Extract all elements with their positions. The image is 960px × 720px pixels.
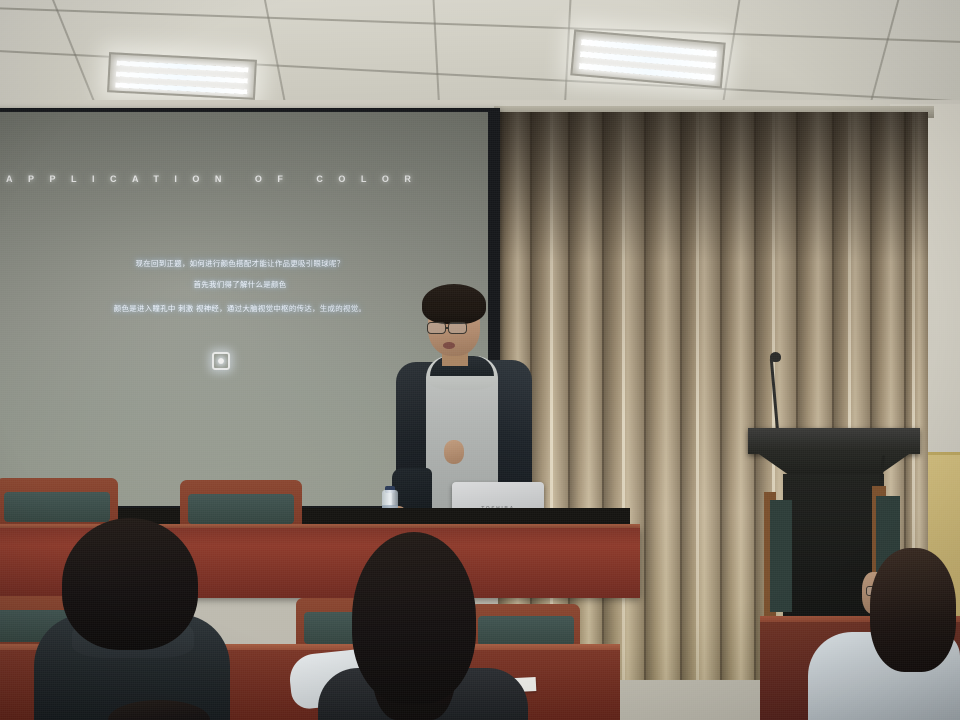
presenter-gesturing-hand — [444, 440, 464, 464]
media-square-dot-icon — [212, 352, 230, 370]
presenter-hair — [422, 284, 486, 324]
student-right-hair — [870, 548, 956, 672]
slide-heading: APPLICATION OF COLOR — [6, 174, 451, 184]
student-center-hair — [352, 532, 476, 704]
bench-pad-row-2 — [188, 494, 294, 524]
podium-top-surface — [748, 428, 920, 454]
stage-chair-left-pad — [770, 500, 792, 612]
slide-line-1: 现在回到正题，如何进行颜色搭配才能让作品更吸引眼球呢？ — [0, 260, 488, 268]
presenter-glasses-bridge — [446, 327, 449, 329]
ceiling-light-right — [570, 29, 725, 88]
student-left-hair — [62, 518, 198, 650]
lecture-hall-photo: APPLICATION OF COLOR 现在回到正题，如何进行颜色搭配才能让作… — [0, 0, 960, 720]
bench-pad-row-3c — [478, 616, 574, 646]
presenter-mouth — [443, 342, 455, 349]
presenter-glasses-left-lens — [427, 322, 446, 334]
ceiling-light-left — [107, 52, 257, 100]
presenter-glasses-right-lens — [448, 322, 467, 334]
bench-pad-row-1 — [4, 492, 110, 522]
